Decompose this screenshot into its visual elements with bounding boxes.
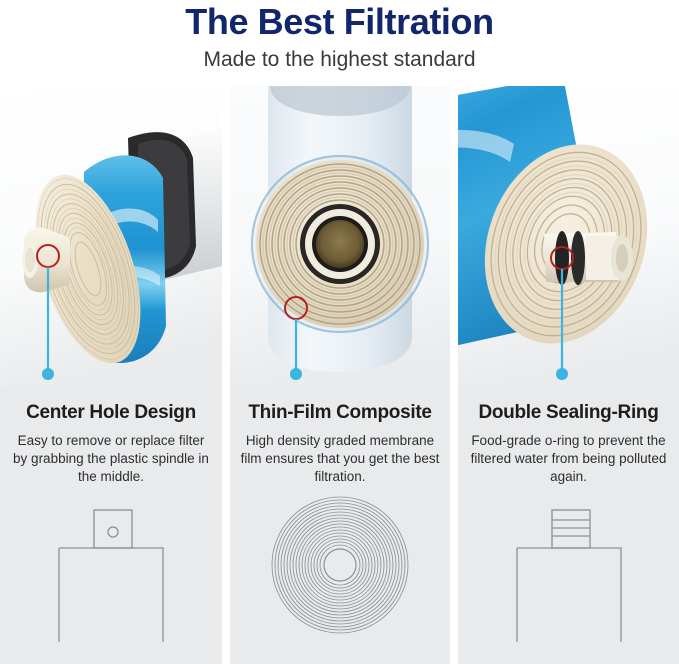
feature-diagram-center-hole-design (0, 486, 222, 664)
callout-dot (42, 368, 54, 380)
membrane-double-oring-illustration (458, 86, 679, 386)
callout-dot (556, 368, 568, 380)
rectangle-with-grooved-square-diagram (489, 492, 649, 642)
concentric-spiral-rings-diagram (260, 492, 420, 642)
feature-text-center-hole-design: Center Hole Design Easy to remove or rep… (0, 386, 222, 486)
column-gutter (222, 86, 230, 664)
feature-title: Thin-Film Composite (230, 402, 450, 424)
membrane-angled-illustration (0, 86, 222, 386)
feature-columns: Center Hole Design Easy to remove or rep… (0, 86, 679, 664)
product-photo-thin-film-composite (230, 86, 450, 386)
product-photo-center-hole-design (0, 86, 222, 386)
feature-description: Food-grade o-ring to prevent the filtere… (458, 424, 679, 486)
product-photo-double-sealing-ring (458, 86, 679, 386)
feature-description: High density graded membrane film ensure… (230, 424, 450, 486)
header: The Best Filtration Made to the highest … (0, 0, 679, 86)
feature-title: Double Sealing-Ring (458, 402, 679, 424)
feature-text-double-sealing-ring: Double Sealing-Ring Food-grade o-ring to… (458, 386, 679, 486)
page-title: The Best Filtration (0, 0, 679, 42)
feature-panel-thin-film-composite: Thin-Film Composite High density graded … (230, 86, 450, 664)
feature-panel-double-sealing-ring: Double Sealing-Ring Food-grade o-ring to… (458, 86, 679, 664)
rectangle-with-square-and-hole-diagram (31, 492, 191, 642)
membrane-front-view-illustration (230, 86, 450, 386)
page-subtitle: Made to the highest standard (0, 42, 679, 72)
feature-description: Easy to remove or replace filter by grab… (0, 424, 222, 486)
column-gutter (450, 86, 458, 664)
feature-text-thin-film-composite: Thin-Film Composite High density graded … (230, 386, 450, 486)
feature-panel-center-hole-design: Center Hole Design Easy to remove or rep… (0, 86, 222, 664)
callout-dot (290, 368, 302, 380)
feature-diagram-thin-film-composite (230, 486, 450, 664)
feature-title: Center Hole Design (0, 402, 222, 424)
feature-diagram-double-sealing-ring (458, 486, 679, 664)
product-infographic: The Best Filtration Made to the highest … (0, 0, 679, 664)
